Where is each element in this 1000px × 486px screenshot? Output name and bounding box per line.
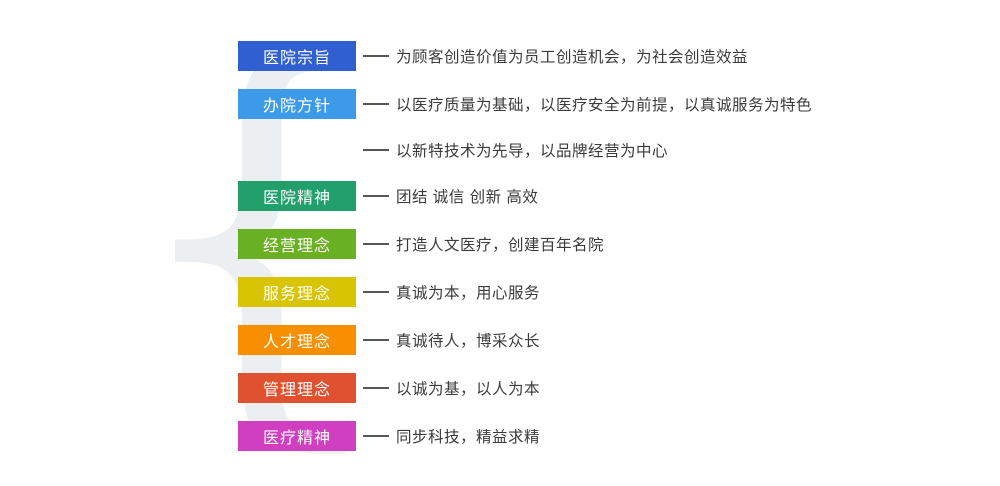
list-item: 医院宗旨 为顾客创造价值为员工创造机会，为社会创造效益 — [238, 32, 978, 80]
category-tag: 办院方针 — [238, 89, 356, 119]
connector-line — [356, 291, 396, 293]
category-description: 团结 诚信 创新 高效 — [396, 185, 538, 207]
category-tag: 服务理念 — [238, 277, 356, 307]
diagram-canvas: { 医院宗旨 为顾客创造价值为员工创造机会，为社会创造效益 办院方针 以医疗质量… — [0, 0, 1000, 480]
category-tag: 医疗精神 — [238, 421, 356, 451]
list-item: 办院方针 以医疗质量为基础，以医疗安全为前提，以真诚服务为特色 — [238, 80, 978, 128]
connector-line — [356, 55, 396, 57]
category-description: 同步科技，精益求精 — [396, 425, 540, 447]
connector-line — [356, 103, 396, 105]
category-description: 打造人文医疗，创建百年名院 — [396, 233, 604, 255]
category-description: 以医疗质量为基础，以医疗安全为前提，以真诚服务为特色 — [396, 93, 812, 115]
category-description: 真诚待人，博采众长 — [396, 329, 540, 351]
category-description: 以诚为基，以人为本 — [396, 377, 540, 399]
connector-line — [356, 387, 396, 389]
list-item-continuation: 以新特技术为先导，以品牌经营为中心 — [238, 128, 978, 172]
list-item: 服务理念 真诚为本，用心服务 — [238, 268, 978, 316]
category-description: 为顾客创造价值为员工创造机会，为社会创造效益 — [396, 45, 748, 67]
list-item: 医疗精神 同步科技，精益求精 — [238, 412, 978, 460]
connector-line — [356, 195, 396, 197]
connector-line — [356, 339, 396, 341]
brace-decoration: { — [120, 10, 230, 470]
connector-line — [356, 435, 396, 437]
connector-line — [356, 243, 396, 245]
list-item: 经营理念 打造人文医疗，创建百年名院 — [238, 220, 978, 268]
connector-line — [356, 149, 396, 151]
values-list: 医院宗旨 为顾客创造价值为员工创造机会，为社会创造效益 办院方针 以医疗质量为基… — [238, 32, 978, 460]
list-item: 管理理念 以诚为基，以人为本 — [238, 364, 978, 412]
category-tag: 经营理念 — [238, 229, 356, 259]
list-item: 人才理念 真诚待人，博采众长 — [238, 316, 978, 364]
category-description: 以新特技术为先导，以品牌经营为中心 — [396, 139, 668, 161]
category-tag: 医院宗旨 — [238, 41, 356, 71]
category-tag: 医院精神 — [238, 181, 356, 211]
category-description: 真诚为本，用心服务 — [396, 281, 540, 303]
category-tag: 人才理念 — [238, 325, 356, 355]
list-item: 医院精神 团结 诚信 创新 高效 — [238, 172, 978, 220]
category-tag: 管理理念 — [238, 373, 356, 403]
